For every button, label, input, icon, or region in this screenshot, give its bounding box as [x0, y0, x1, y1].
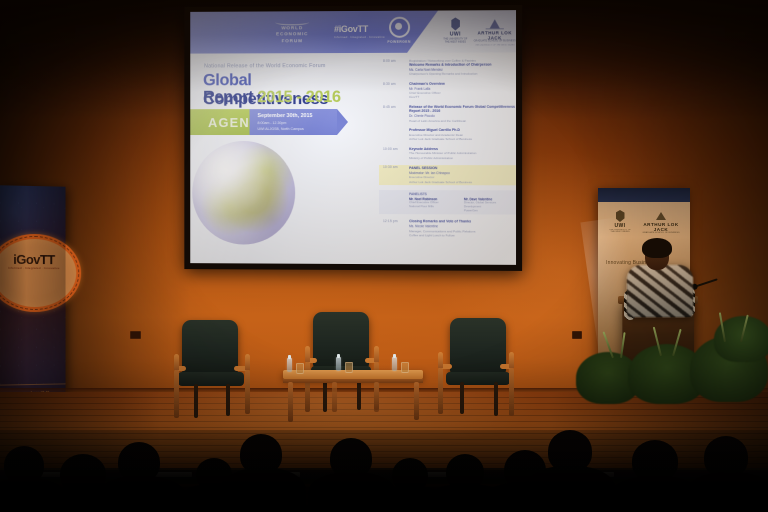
- table-leg: [414, 382, 419, 420]
- uwi-logo-sub: THE UNIVERSITY OF THE WEST INDIES: [442, 38, 468, 44]
- uwi-logo: UWI THE UNIVERSITY OF THE WEST INDIES: [442, 17, 468, 43]
- table-leg: [374, 382, 379, 412]
- table-leg: [332, 382, 337, 412]
- conference-photo-scene: WORLD ECONOMIC FORUM #iGovTT Informed . …: [0, 0, 768, 512]
- agenda-row-highlighted: 10:30 am PANEL SESSION Moderator: Mr. Ia…: [379, 165, 516, 185]
- agenda-date-chip: September 30th, 2015 8:00am - 12.30pm UW…: [250, 109, 337, 135]
- agenda-row-sub2: Chairperson's Opening Remarks and Introd…: [409, 72, 516, 76]
- agenda-row-time: 12:15 pm: [383, 220, 398, 224]
- agenda-row-title: Release of the World Economic Forum Glob…: [409, 105, 516, 115]
- slide-title-global: Global: [203, 71, 251, 89]
- alj-logo-text: ARTHUR LOK JACK: [473, 30, 516, 40]
- slide-title-report: Report: [203, 88, 253, 106]
- agenda-row-time: 8:30 am: [383, 82, 396, 86]
- coffee-table-edge: [283, 379, 423, 383]
- panelist-role2: National Flour Mills: [409, 205, 458, 209]
- water-bottle: [287, 358, 292, 372]
- igovtt-rollup-banner: iGovTT Informed . Integrated . Innovativ…: [0, 185, 66, 401]
- panel-chair-left: [168, 320, 258, 420]
- agenda-row-sub2: Arthur Lok Jack Graduate School of Busin…: [409, 180, 516, 184]
- banner-shadow: [0, 185, 66, 401]
- agenda-row: 8:45 am Release of the World Economic Fo…: [379, 105, 516, 123]
- panel-chair-right: [432, 318, 522, 418]
- slide-kicker: National Release of the World Economic F…: [204, 63, 326, 69]
- slide-left-column: National Release of the World Economic F…: [190, 53, 379, 264]
- wall-outlet: [130, 331, 141, 339]
- powergen-ring-icon: [389, 17, 410, 38]
- panelist-entry: Mr. Noel Robinson Chief Executive Office…: [409, 197, 458, 212]
- uwi-crest-icon: [451, 17, 460, 30]
- slide-body: National Release of the World Economic F…: [190, 52, 516, 264]
- panel-chair-center: [303, 312, 383, 412]
- table-leg: [288, 382, 293, 422]
- alj-peak-icon: [486, 19, 504, 29]
- water-bottle: [392, 357, 397, 371]
- speaker-shading: [627, 265, 693, 317]
- agenda-row-time: 10:00 am: [383, 147, 398, 151]
- wall-outlet-secondary: [572, 331, 582, 339]
- igovtt-logo: #iGovTT Informed . Integrated . Innovati…: [334, 24, 385, 39]
- panelist-role2: PowerGen: [464, 209, 513, 213]
- agenda-row-sub1: Head of Latin America and the Caribbean: [409, 118, 516, 122]
- slide-title-line2: Report 2015 - 2016: [203, 88, 341, 107]
- agenda-row: 10:00 am Keynote Address The Honourable …: [379, 147, 516, 160]
- panelists-label: PANELISTS: [409, 192, 513, 196]
- wef-line3: FORUM: [275, 38, 309, 43]
- slide-title-years: 2015 - 2016: [257, 88, 340, 106]
- world-economic-forum-logo: WORLD ECONOMIC FORUM: [275, 19, 309, 44]
- agenda-chip-arrow: [337, 109, 348, 135]
- alj-logo-sub2: THE UNIVERSITY OF THE WEST INDIES: [473, 44, 516, 46]
- powergen-logo: POWERGEN: [384, 17, 414, 44]
- agenda-time-range: 8:00am - 12.30pm: [257, 121, 286, 125]
- agenda-row-time: 10:30 am: [383, 165, 398, 169]
- wef-line2: ECONOMIC: [275, 32, 309, 37]
- agenda-row-sub2: Arthur Lok Jack Graduate School of Busin…: [409, 137, 516, 141]
- igovtt-logo-text: #iGovTT: [334, 24, 385, 34]
- wef-line1: WORLD: [275, 25, 309, 30]
- agenda-row-time: 8:00 am: [383, 59, 396, 63]
- drinking-glass: [296, 363, 304, 374]
- projected-slide: WORLD ECONOMIC FORUM #iGovTT Informed . …: [190, 10, 516, 265]
- drinking-glass: [345, 362, 353, 373]
- speaker-hair: [642, 238, 672, 258]
- agenda-row-sub2: Ministry of Public Administration: [409, 156, 516, 160]
- agenda-list: 8:00 am Registration / Networking over C…: [379, 52, 516, 264]
- agenda-row-time: 8:45 am: [383, 105, 396, 109]
- water-bottle: [336, 357, 341, 371]
- agenda-row: 8:00 am Registration / Networking over C…: [379, 58, 516, 76]
- panelist-entry: Mr. Dave Valentine Director, Global Serv…: [464, 197, 513, 213]
- agenda-row-sub2: iGovTT: [409, 95, 516, 99]
- powergen-logo-text: POWERGEN: [384, 40, 414, 44]
- igovtt-logo-sub: Informed . Integrated . Innovative: [334, 35, 385, 39]
- agenda-row-closing: 12:15 pm Closing Remarks and Vote of Tha…: [379, 220, 516, 238]
- projection-screen: WORLD ECONOMIC FORUM #iGovTT Informed . …: [184, 5, 522, 271]
- globe-highlight: [192, 141, 295, 245]
- alj-logo-sub: GRADUATE SCHOOL OF BUSINESS: [473, 40, 516, 42]
- panelists-block: PANELISTS Mr. Noel Robinson Chief Execut…: [379, 190, 516, 215]
- drinking-glass: [401, 362, 409, 373]
- agenda-row: 8:30 am Chairman's Overview Mr. Frank La…: [379, 81, 516, 99]
- agenda-row-sub2: Coffee and Light Lunch to Follow: [409, 233, 516, 238]
- agenda-date: September 30th, 2015: [257, 113, 312, 119]
- agenda-row: Professor Miguel Carrillo Ph.D Executive…: [379, 128, 516, 141]
- audience-foreground-shadow: [0, 470, 768, 512]
- agenda-venue: UWI ALJGSB, North Campus: [257, 127, 303, 131]
- arthur-lok-jack-logo: ARTHUR LOK JACK GRADUATE SCHOOL OF BUSIN…: [473, 19, 516, 46]
